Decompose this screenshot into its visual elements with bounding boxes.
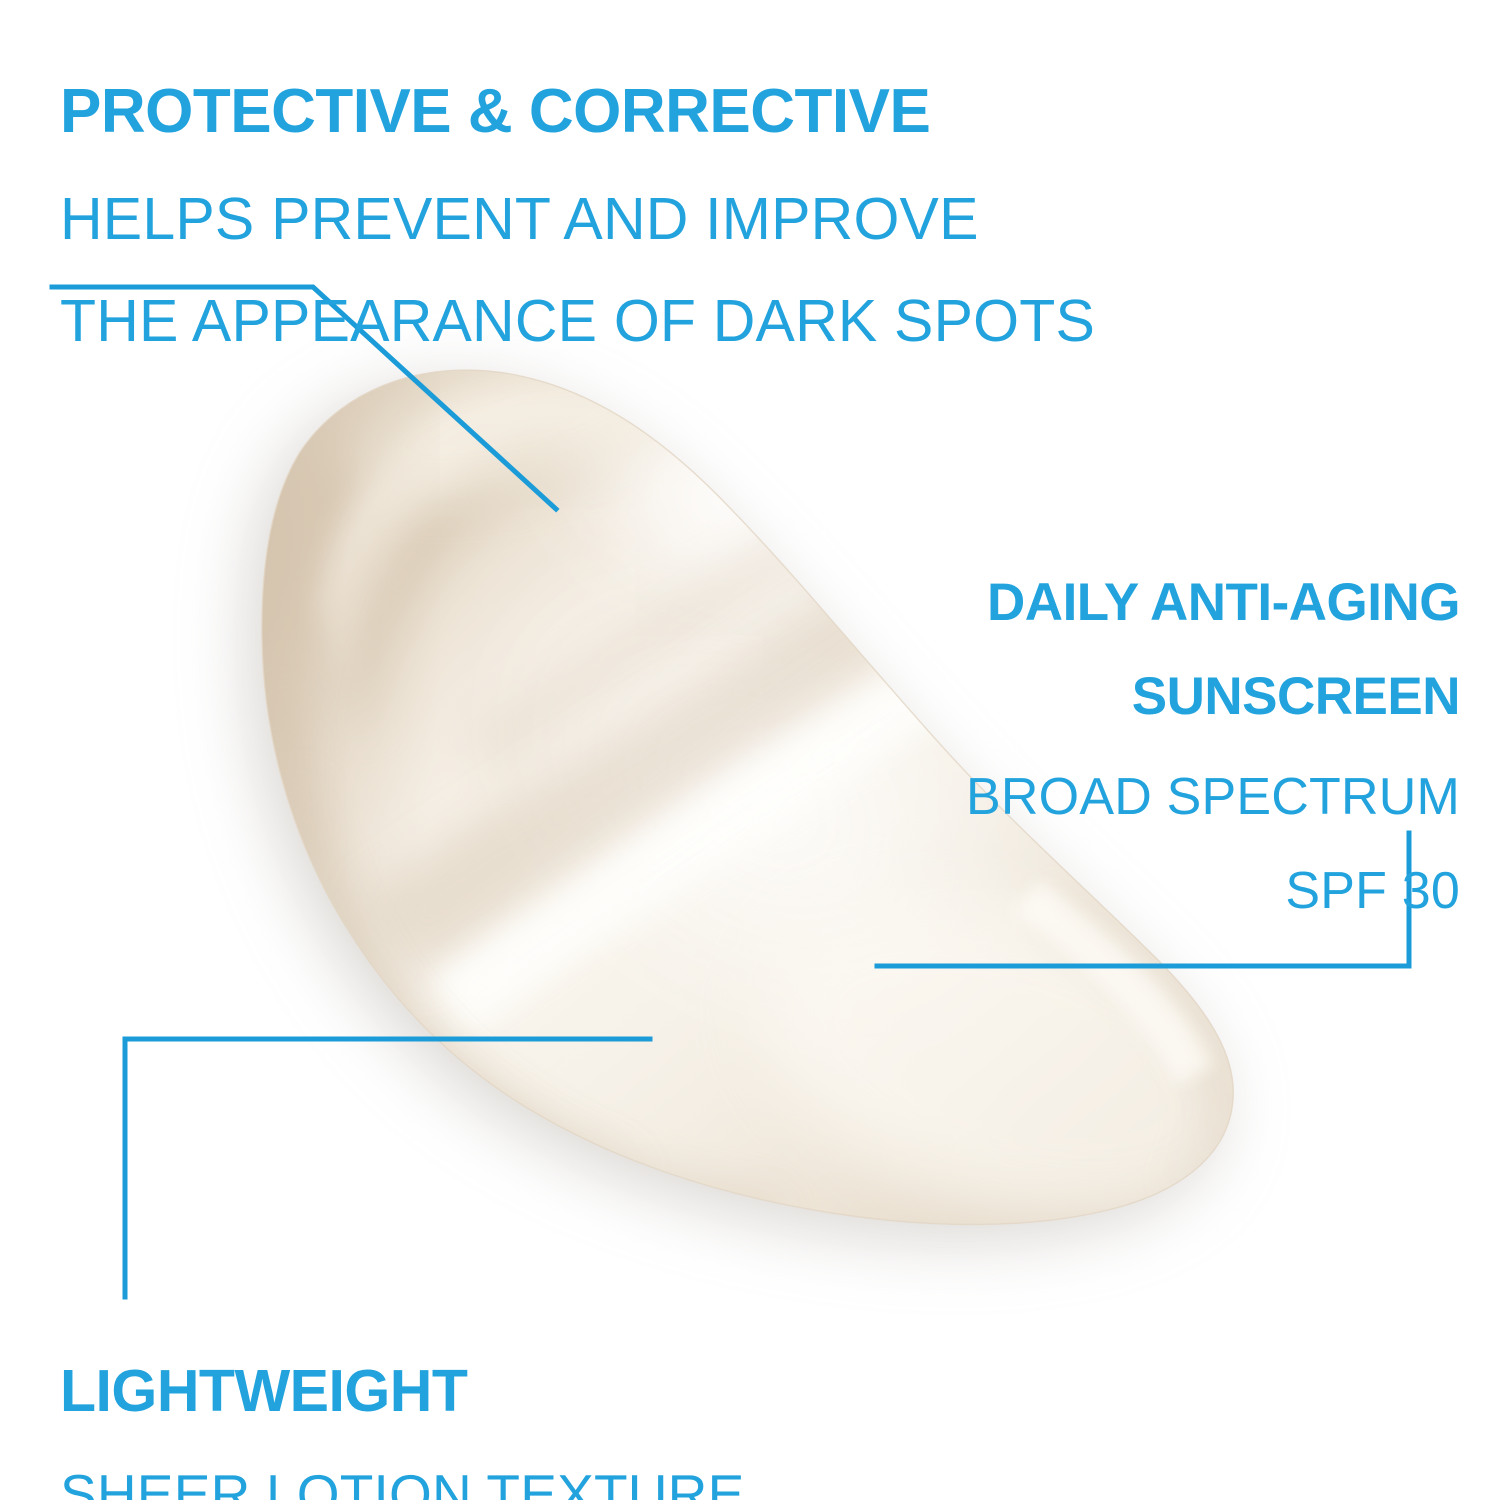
product-feature-callout-image: PROTECTIVE & CORRECTIVE HELPS PREVENT AN… [0,0,1500,1500]
callout-lightweight: LIGHTWEIGHT SHEER LOTION TEXTURE [60,1326,745,1500]
daily-subline-2-spf: SPF 30 [966,860,1460,922]
protective-headline: PROTECTIVE & CORRECTIVE [60,78,1095,146]
callout-protective-corrective: PROTECTIVE & CORRECTIVE HELPS PREVENT AN… [60,46,1095,388]
lightweight-subline: SHEER LOTION TEXTURE [60,1462,745,1500]
lightweight-headline: LIGHTWEIGHT [60,1358,745,1424]
daily-headline-1: DAILY ANTI-AGING [966,572,1460,634]
callout-daily-anti-aging-sunscreen: DAILY ANTI-AGING SUNSCREEN BROAD SPECTRU… [966,540,1460,954]
protective-subline-1: HELPS PREVENT AND IMPROVE [60,184,1095,254]
protective-subline-2: THE APPEARANCE OF DARK SPOTS [60,286,1095,356]
daily-headline-2: SUNSCREEN [966,666,1460,728]
daily-subline-1: BROAD SPECTRUM [966,766,1460,828]
leader-line-lightweight [125,1039,650,1297]
